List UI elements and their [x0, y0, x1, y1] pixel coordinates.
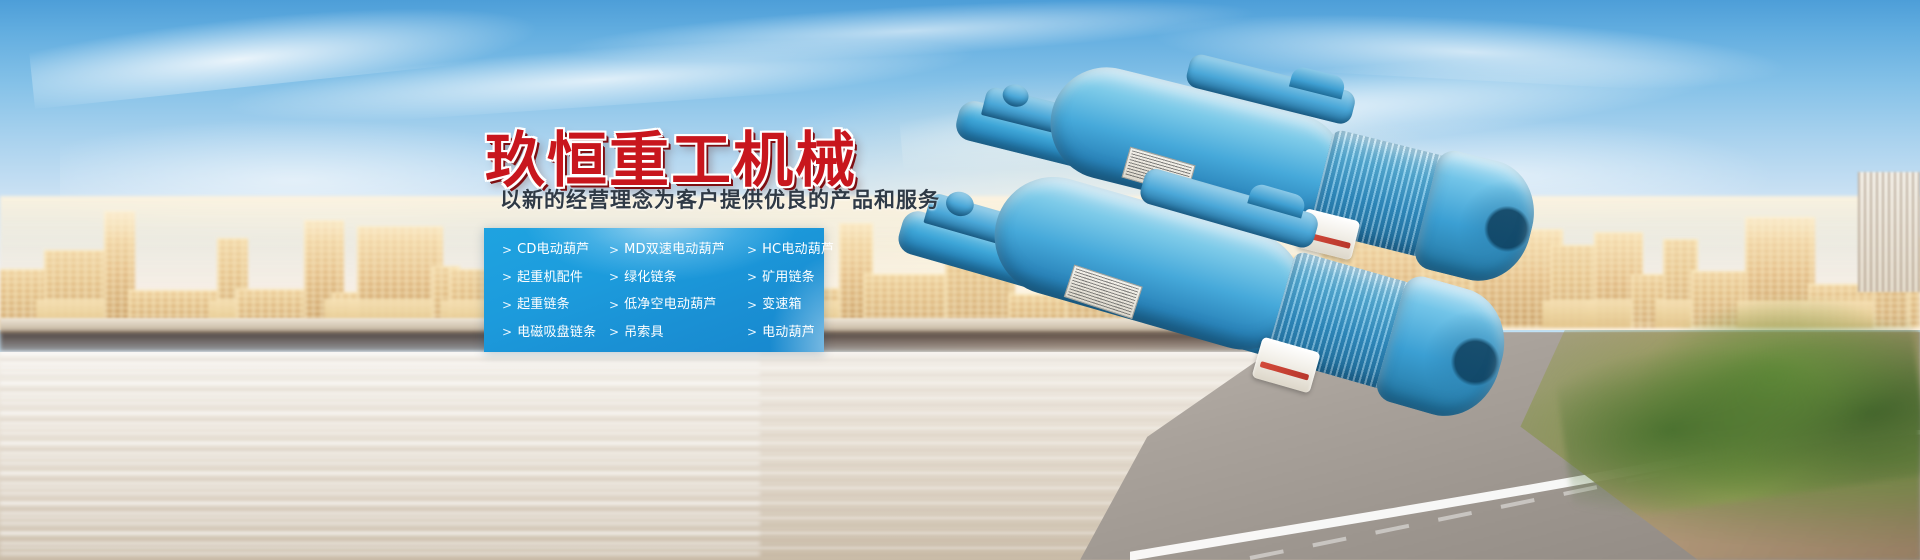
- road-motion-blur-left: [0, 352, 760, 560]
- product-category-list: >CD电动葫芦>MD双速电动葫芦>HC电动葫芦>起重机配件>绿化链条>矿用链条>…: [484, 228, 824, 352]
- chevron-right-icon: >: [609, 299, 619, 311]
- chevron-right-icon: >: [502, 271, 512, 283]
- product-link-label: 吊索具: [624, 326, 664, 339]
- chevron-right-icon: >: [747, 271, 757, 283]
- product-link[interactable]: >变速箱: [747, 291, 842, 319]
- product-link-label: 起重链条: [517, 298, 570, 311]
- product-link[interactable]: >电磁吸盘链条: [502, 319, 609, 347]
- chevron-right-icon: >: [609, 326, 619, 338]
- product-link-label: 起重机配件: [517, 271, 583, 284]
- right-edge-building: [1858, 172, 1920, 292]
- chevron-right-icon: >: [502, 244, 512, 256]
- product-link[interactable]: >CD电动葫芦: [502, 236, 609, 264]
- product-link-label: 矿用链条: [762, 271, 815, 284]
- product-link-label: HC电动葫芦: [762, 243, 834, 256]
- chevron-right-icon: >: [502, 299, 512, 311]
- product-link[interactable]: >吊索具: [609, 319, 747, 347]
- product-category-panel: >CD电动葫芦>MD双速电动葫芦>HC电动葫芦>起重机配件>绿化链条>矿用链条>…: [484, 228, 824, 352]
- hero-banner: 玖恒重工机械 以新的经营理念为客户提供优良的产品和服务 >CD电动葫芦>MD双速…: [0, 0, 1920, 560]
- product-link[interactable]: >MD双速电动葫芦: [609, 236, 747, 264]
- product-link[interactable]: >绿化链条: [609, 264, 747, 292]
- page-subtitle: 以新的经营理念为客户提供优良的产品和服务: [500, 184, 940, 214]
- chevron-right-icon: >: [609, 271, 619, 283]
- product-link[interactable]: >起重链条: [502, 291, 609, 319]
- control-box-stripe: [1259, 361, 1309, 381]
- product-link[interactable]: >HC电动葫芦: [747, 236, 842, 264]
- product-link-label: 变速箱: [762, 298, 802, 311]
- product-link-label: 低净空电动葫芦: [624, 298, 716, 311]
- product-link[interactable]: >起重机配件: [502, 264, 609, 292]
- product-link-label: MD双速电动葫芦: [624, 243, 725, 256]
- product-link[interactable]: >低净空电动葫芦: [609, 291, 747, 319]
- product-link[interactable]: >矿用链条: [747, 264, 842, 292]
- product-link[interactable]: >电动葫芦: [747, 319, 842, 347]
- chevron-right-icon: >: [747, 326, 757, 338]
- product-link-label: 电动葫芦: [762, 326, 815, 339]
- chevron-right-icon: >: [609, 244, 619, 256]
- product-link-label: 绿化链条: [624, 271, 677, 284]
- chevron-right-icon: >: [747, 244, 757, 256]
- chevron-right-icon: >: [502, 326, 512, 338]
- chevron-right-icon: >: [747, 299, 757, 311]
- product-link-label: CD电动葫芦: [517, 243, 589, 256]
- product-link-label: 电磁吸盘链条: [517, 326, 596, 339]
